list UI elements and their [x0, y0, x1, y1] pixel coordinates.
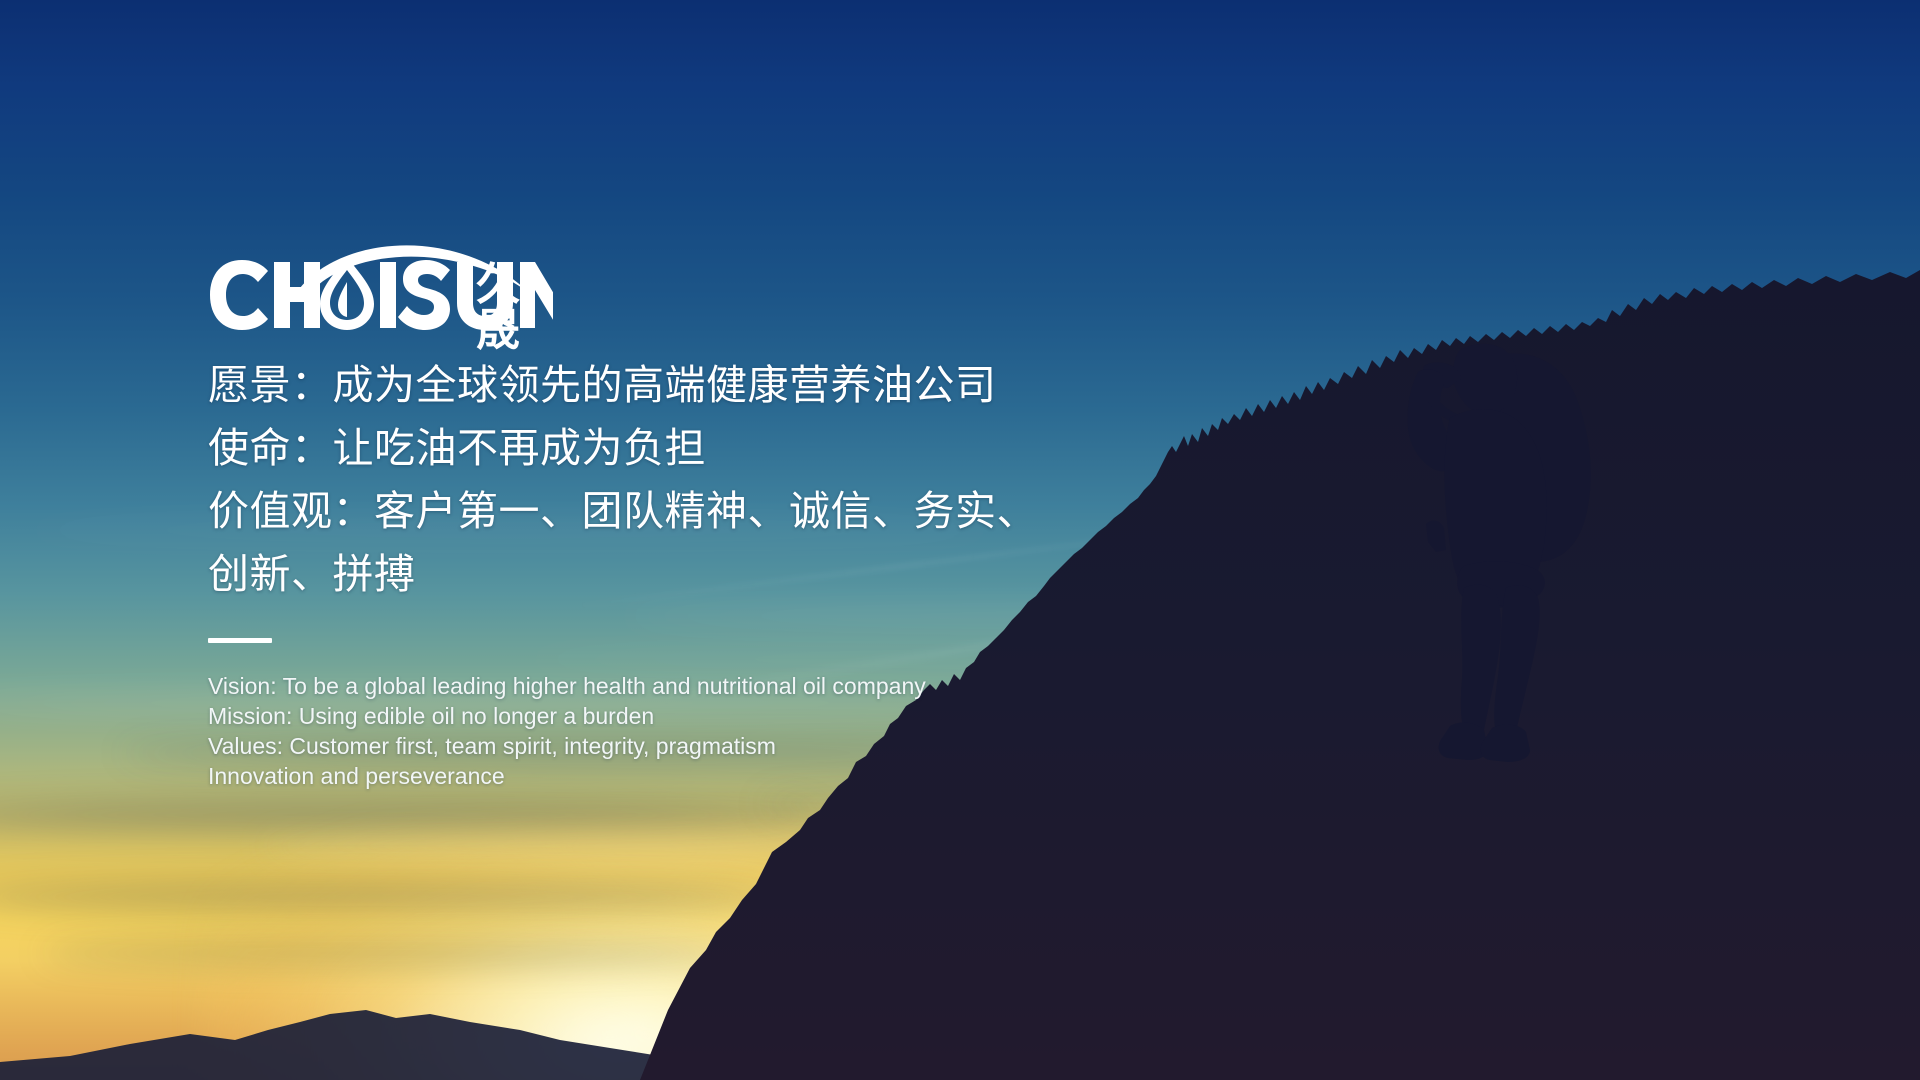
hiker-silhouette [1388, 336, 1638, 786]
company-logo[interactable]: 久晟 [208, 240, 553, 336]
vision-statement-en: Vision: To be a global leading higher he… [208, 671, 1408, 791]
mission-line-en: Mission: Using edible oil no longer a bu… [208, 701, 1408, 731]
logo-wordmark-left [210, 260, 320, 330]
vision-line-cn: 愿景：成为全球领先的高端健康营养油公司 [208, 354, 1408, 417]
section-divider [208, 638, 272, 643]
vision-statement-cn: 愿景：成为全球领先的高端健康营养油公司 使命：让吃油不再成为负担 价值观：客户第… [208, 354, 1408, 606]
values-line-cn-2: 创新、拼搏 [208, 543, 1408, 606]
content-block: 久晟 愿景：成为全球领先的高端健康营养油公司 使命：让吃油不再成为负担 价值观：… [208, 240, 1408, 791]
values-line-en-2: Innovation and perseverance [208, 761, 1408, 791]
mission-line-cn: 使命：让吃油不再成为负担 [208, 417, 1408, 480]
values-line-cn-1: 价值观：客户第一、团队精神、诚信、务实、 [208, 480, 1408, 543]
logo-cn-characters: 久晟 [476, 262, 553, 354]
slide-canvas: 久晟 愿景：成为全球领先的高端健康营养油公司 使命：让吃油不再成为负担 价值观：… [0, 0, 1920, 1080]
vision-line-en: Vision: To be a global leading higher he… [208, 671, 1408, 701]
values-line-en-1: Values: Customer first, team spirit, int… [208, 731, 1408, 761]
